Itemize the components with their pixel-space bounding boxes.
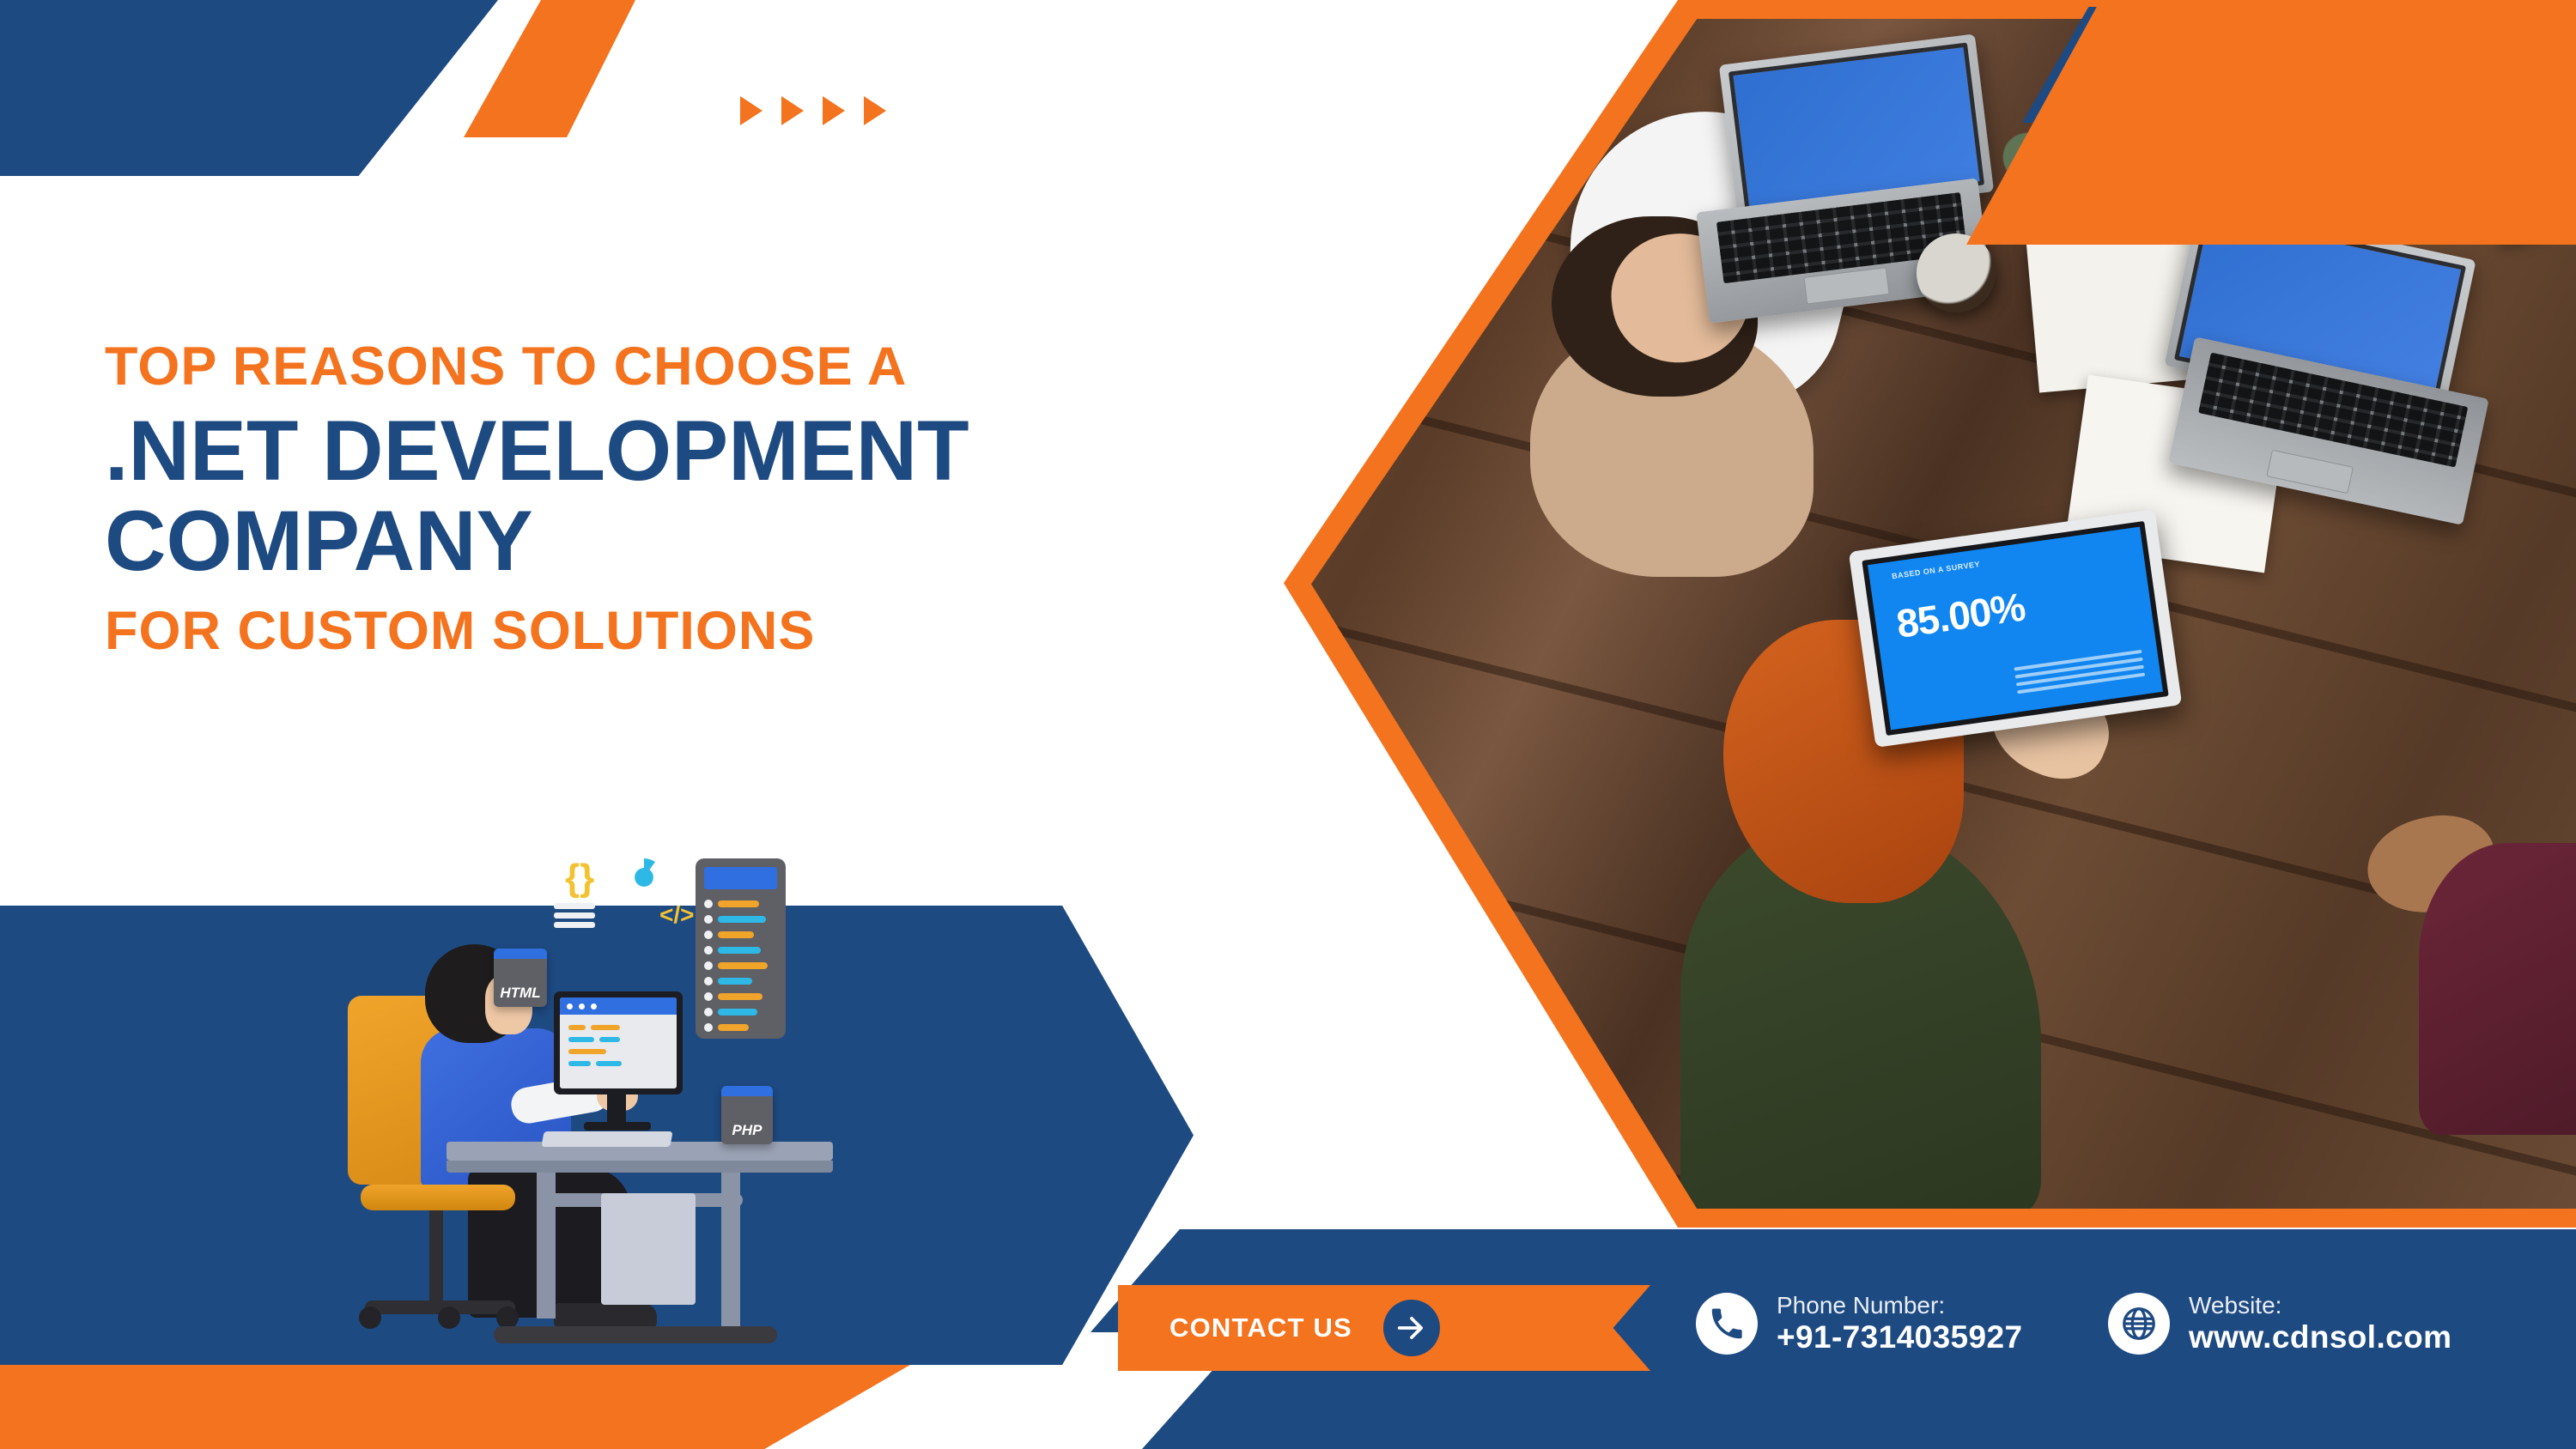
arrow-decorations	[740, 96, 886, 125]
monitor-foot	[584, 1122, 651, 1131]
headline-line-2: .NET DEVELOPMENT	[105, 406, 1307, 496]
tablet-percentage: 85.00%	[1893, 584, 2027, 647]
computer-tower	[601, 1193, 696, 1305]
developer-shoe	[554, 1303, 657, 1329]
developer-at-desk-illustration: HTML PHP {} </>	[318, 824, 867, 1399]
headline-line-1: TOP REASONS TO CHOOSE A	[105, 339, 1307, 394]
top-left-blue-band	[0, 0, 498, 176]
bottom-left-orange-strip	[0, 1365, 910, 1449]
website-value: www.cdnsol.com	[2189, 1319, 2451, 1356]
play-triangle-icon	[781, 96, 804, 125]
tablet-text-lines	[2014, 646, 2146, 698]
marketing-banner: BASED ON A SURVEY 85.00% TOP REASONS TO …	[0, 0, 2576, 1449]
monitor-stand	[607, 1094, 626, 1124]
phone-label: Phone Number:	[1777, 1292, 2022, 1319]
code-tag-icon: </>	[659, 901, 694, 929]
play-triangle-icon	[864, 96, 886, 125]
tablet-caption: BASED ON A SURVEY	[1891, 560, 1980, 580]
chair-wheel	[438, 1307, 460, 1329]
play-triangle-icon	[740, 96, 762, 125]
html-tag-label: HTML	[500, 985, 540, 1002]
website-label: Website:	[2189, 1292, 2451, 1319]
phone-icon	[1696, 1293, 1758, 1355]
globe-icon	[2108, 1293, 2170, 1355]
tablet-primary: BASED ON A SURVEY 85.00%	[1849, 509, 2183, 748]
coffee-mug	[1917, 233, 1996, 312]
desk-surface-edge	[447, 1161, 833, 1173]
html-tag-badge: HTML	[494, 949, 547, 1007]
phone-contact-group[interactable]: Phone Number: +91-7314035927	[1696, 1292, 2022, 1356]
code-panel	[696, 858, 786, 1039]
curly-braces-icon: {}	[565, 857, 594, 900]
play-triangle-icon	[823, 96, 845, 125]
contact-us-button[interactable]: CONTACT US	[1118, 1285, 1650, 1371]
chair-wheel	[359, 1307, 381, 1329]
monitor	[554, 991, 683, 1094]
arrow-right-icon	[1383, 1300, 1440, 1356]
headline-line-3: COMPANY	[105, 496, 1307, 586]
keyboard	[541, 1131, 672, 1147]
desk-base	[494, 1326, 777, 1343]
headline-line-4: FOR CUSTOM SOLUTIONS	[105, 603, 1307, 658]
office-chair-pole	[429, 1210, 443, 1305]
phone-value: +91-7314035927	[1777, 1319, 2022, 1356]
stacked-lines-icon	[554, 900, 595, 931]
top-left-orange-slice	[464, 0, 635, 137]
php-tag-label: PHP	[732, 1122, 762, 1139]
php-tag-badge: PHP	[721, 1086, 773, 1144]
website-contact-group[interactable]: Website: www.cdnsol.com	[2108, 1292, 2451, 1356]
person-right-sleeve	[2419, 843, 2576, 1135]
contact-us-label: CONTACT US	[1170, 1313, 1352, 1343]
headline-block: TOP REASONS TO CHOOSE A .NET DEVELOPMENT…	[105, 339, 1307, 658]
office-chair-seat	[361, 1185, 515, 1210]
gear-icon	[625, 858, 663, 896]
